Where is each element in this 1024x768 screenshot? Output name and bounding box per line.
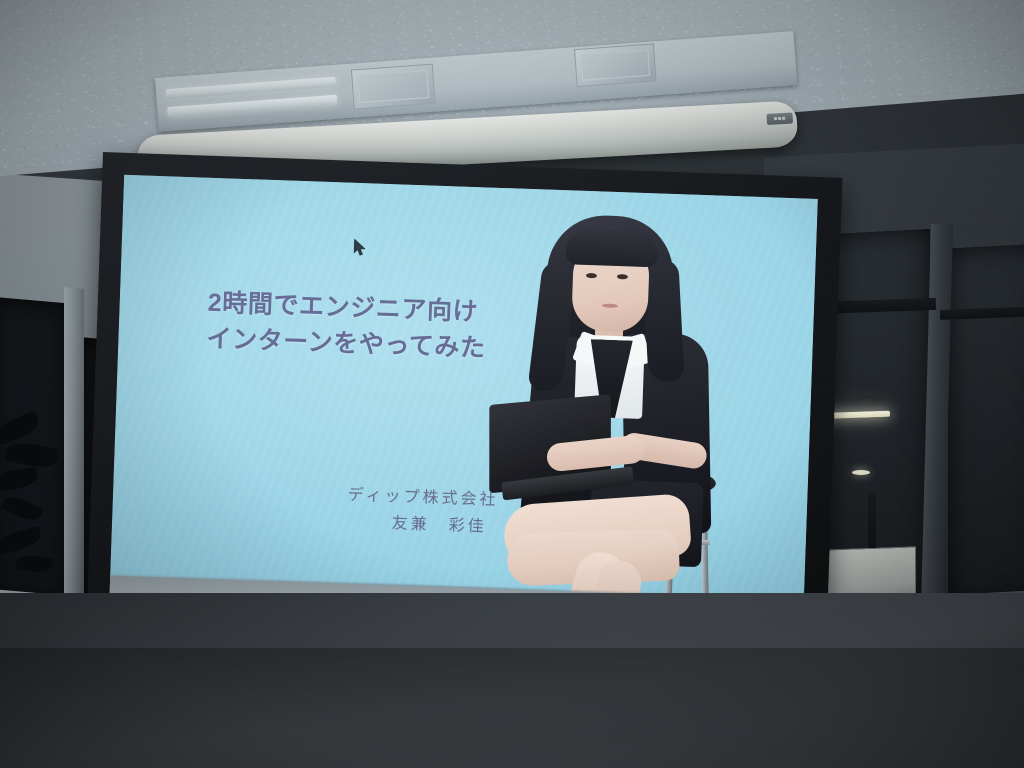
presenter-eye bbox=[617, 274, 628, 279]
slide-title: 2時間でエンジニア向け インターンをやってみた bbox=[206, 286, 538, 368]
lower-wall-shading bbox=[0, 648, 1024, 768]
presenter-eye bbox=[586, 273, 597, 278]
fluorescent-lamp bbox=[167, 95, 337, 117]
right-window-pane-b bbox=[948, 243, 1024, 604]
presenter-photo bbox=[468, 203, 764, 651]
air-vent-inner bbox=[580, 50, 650, 81]
air-vent bbox=[574, 43, 657, 87]
photo-scene: ■■■ bbox=[0, 0, 1024, 768]
window-mullion-left bbox=[64, 287, 84, 609]
slide-byline: ディップ株式会社 友兼 彩佳 bbox=[282, 481, 564, 544]
housing-brand-mark: ■■■ bbox=[766, 113, 793, 125]
far-partition bbox=[868, 492, 876, 548]
slide-canvas: 2時間でエンジニア向け インターンをやってみた ディップ株式会社 友兼 彩佳 bbox=[108, 175, 817, 652]
air-vent-inner bbox=[357, 70, 429, 103]
air-vent bbox=[351, 64, 436, 110]
mouse-pointer-icon bbox=[353, 239, 367, 257]
screen-surface: 2時間でエンジニア向け インターンをやってみた ディップ株式会社 友兼 彩佳 bbox=[108, 175, 817, 652]
presenter-bangs bbox=[565, 228, 658, 267]
far-downlight bbox=[852, 470, 870, 475]
